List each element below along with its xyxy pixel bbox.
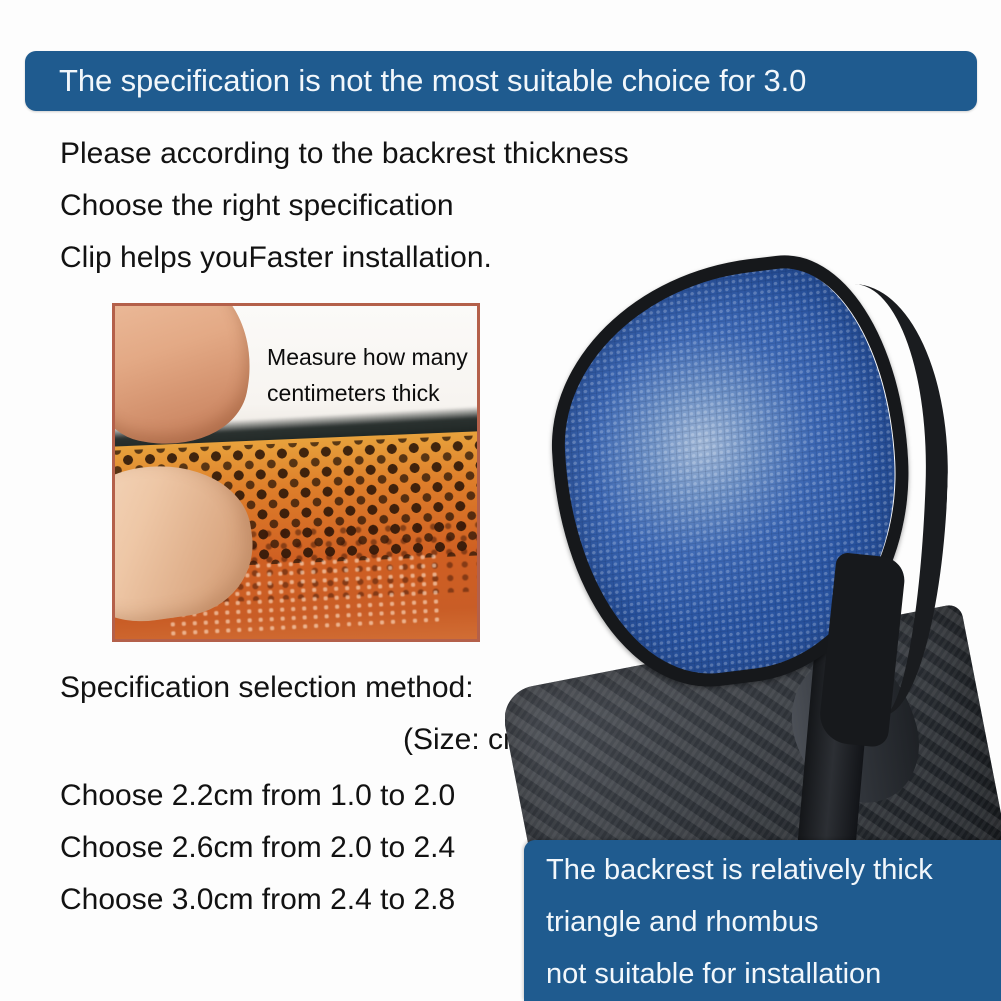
measure-caption-line-2: centimeters thick <box>267 375 470 411</box>
measure-caption-line-1: Measure how many <box>267 339 470 375</box>
bottom-callout-line-3: not suitable for installation <box>524 948 1001 1000</box>
specification-unit-note: (Size: cm) <box>60 714 538 766</box>
measure-photo: Measure how many centimeters thick <box>112 303 480 642</box>
spec-option-1: Choose 2.2cm from 1.0 to 2.0 <box>60 770 580 822</box>
bottom-callout-panel: The backrest is relatively thick triangl… <box>524 840 1001 1001</box>
top-banner-text: The specification is not the most suitab… <box>25 63 806 99</box>
bottom-callout-line-1: The backrest is relatively thick <box>524 844 1001 896</box>
spec-option-2: Choose 2.6cm from 2.0 to 2.4 <box>60 822 580 874</box>
bottom-callout-text: The backrest is relatively thick triangl… <box>524 840 1001 1000</box>
top-banner: The specification is not the most suitab… <box>25 51 977 111</box>
specification-heading: Specification selection method: <box>60 662 474 714</box>
intro-line-1: Please according to the backrest thickne… <box>60 128 680 180</box>
specification-options: Choose 2.2cm from 1.0 to 2.0 Choose 2.6c… <box>60 770 580 926</box>
chair-photo <box>505 255 1001 915</box>
bottom-callout-line-2: triangle and rhombus <box>524 896 1001 948</box>
intro-line-2: Choose the right specification <box>60 180 680 232</box>
product-infographic: The specification is not the most suitab… <box>0 0 1001 1001</box>
measure-photo-caption: Measure how many centimeters thick <box>267 339 470 411</box>
spec-option-3: Choose 3.0cm from 2.4 to 2.8 <box>60 874 580 926</box>
